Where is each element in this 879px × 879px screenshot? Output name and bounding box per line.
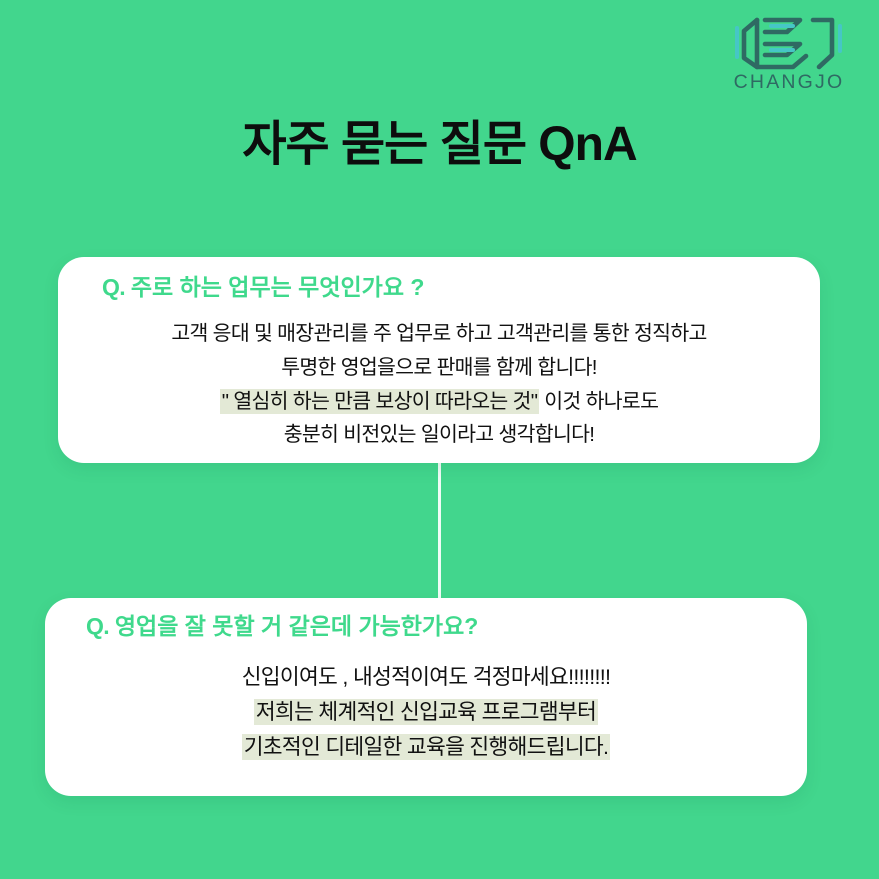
answer-text: 충분히 비전있는 일이라고 생각합니다! <box>284 423 595 446</box>
brand-wordmark: CHANGJO <box>734 73 845 93</box>
question-text: 영업을 잘 못할 거 같은데 가능한가요? <box>115 613 478 639</box>
faq-answer-2: 신입이여도 , 내성적이여도 걱정마세요!!!!!!!!저희는 체계적인 신입교… <box>73 660 779 764</box>
card-connector-line <box>438 462 441 599</box>
question-text: 주로 하는 업무는 무엇인가요 ? <box>131 274 425 300</box>
faq-card-2: Q. 영업을 잘 못할 거 같은데 가능한가요? 신입이여도 , 내성적이여도 … <box>45 598 807 796</box>
answer-text: 신입이여도 , 내성적이여도 걱정마세요!!!!!!!! <box>242 665 611 689</box>
q-prefix: Q. <box>102 274 125 300</box>
q-prefix: Q. <box>86 613 109 639</box>
faq-card-1: Q. 주로 하는 업무는 무엇인가요 ? 고객 응대 및 매장관리를 주 업무로… <box>58 257 820 463</box>
brand-logo: CHANGJO <box>721 14 857 100</box>
answer-line: " 열심히 하는 만큼 보상이 따라오는 것" 이것 하나로도 <box>86 385 792 419</box>
faq-question-1: Q. 주로 하는 업무는 무엇인가요 ? <box>102 273 792 303</box>
changjo-cj-monogram-icon <box>727 14 851 72</box>
highlighted-text: 기초적인 디테일한 교육을 진행해드립니다. <box>242 734 611 760</box>
highlighted-text: " 열심히 하는 만큼 보상이 따라오는 것" <box>220 389 540 414</box>
faq-answer-1: 고객 응대 및 매장관리를 주 업무로 하고 고객관리를 통한 정직하고투명한 … <box>86 317 792 452</box>
answer-text: 투명한 영업을으로 판매를 함께 합니다! <box>281 356 597 379</box>
highlighted-text: 저희는 체계적인 신입교육 프로그램부터 <box>254 699 598 725</box>
faq-question-2: Q. 영업을 잘 못할 거 같은데 가능한가요? <box>86 612 779 642</box>
answer-line: 투명한 영업을으로 판매를 함께 합니다! <box>86 351 792 385</box>
page-title: 자주 묻는 질문 QnA <box>0 117 879 172</box>
answer-text: 고객 응대 및 매장관리를 주 업무로 하고 고객관리를 통한 정직하고 <box>171 322 706 345</box>
answer-text: 이것 하나로도 <box>539 390 658 413</box>
answer-line: 저희는 체계적인 신입교육 프로그램부터 <box>73 695 779 730</box>
answer-line: 충분히 비전있는 일이라고 생각합니다! <box>86 418 792 452</box>
faq-card-page: { "brand": { "logo_icon": "changjo-cj-mo… <box>0 0 879 879</box>
answer-line: 고객 응대 및 매장관리를 주 업무로 하고 고객관리를 통한 정직하고 <box>86 317 792 351</box>
answer-line: 기초적인 디테일한 교육을 진행해드립니다. <box>73 730 779 765</box>
answer-line: 신입이여도 , 내성적이여도 걱정마세요!!!!!!!! <box>73 660 779 695</box>
